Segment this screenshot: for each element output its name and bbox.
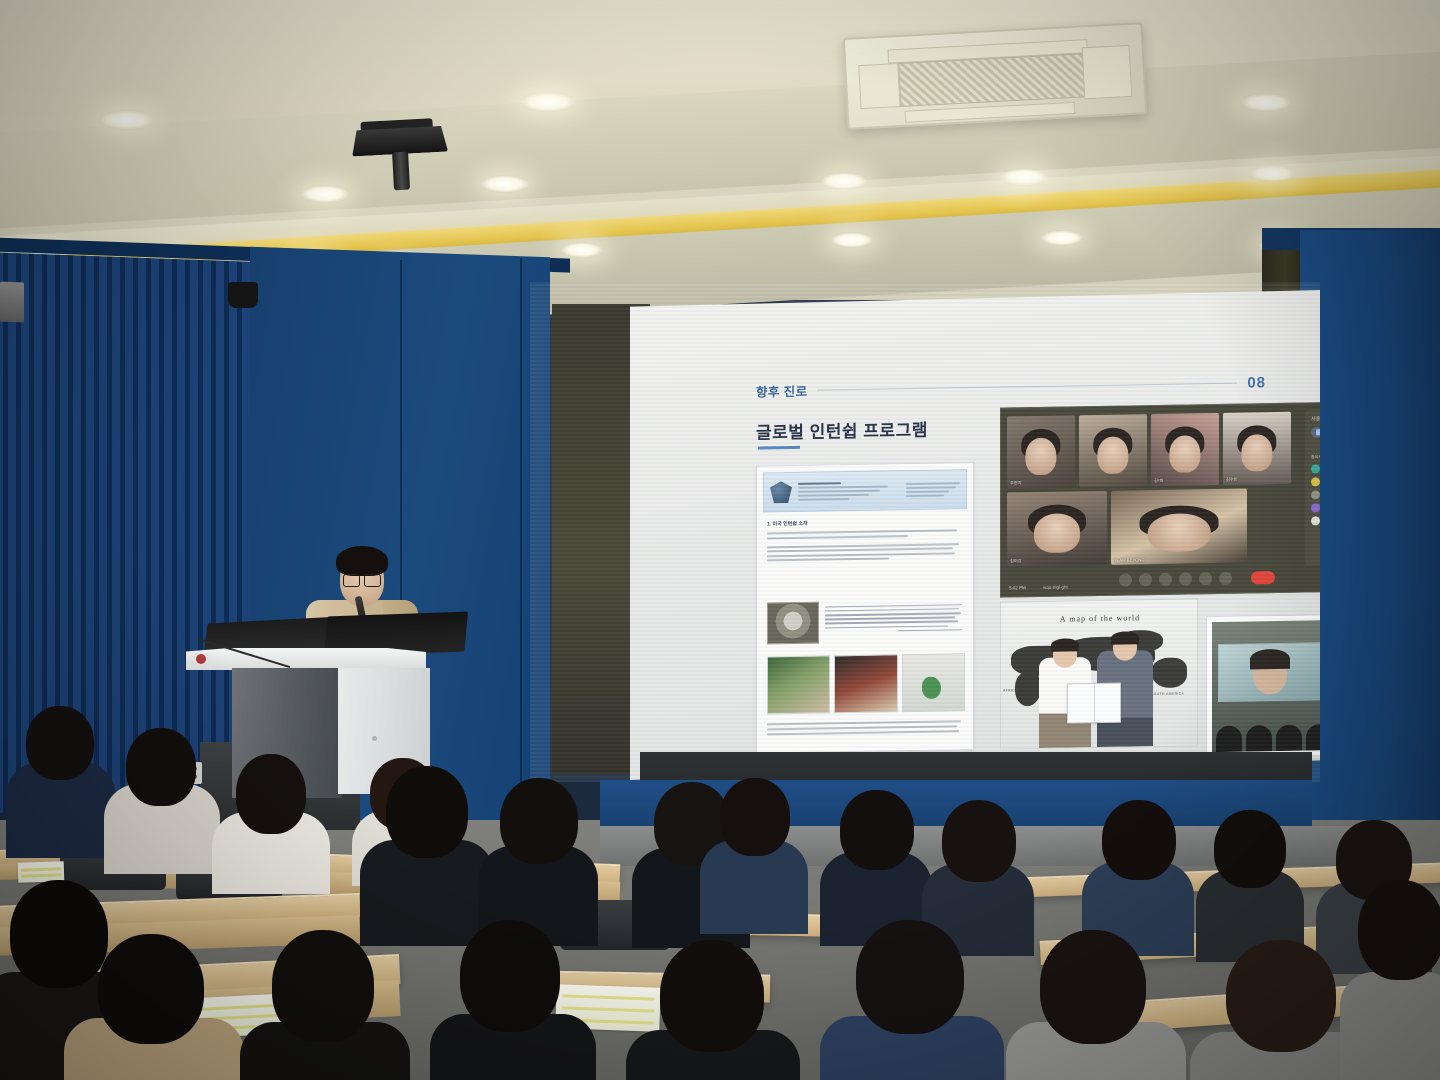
wall-seam [520, 258, 522, 818]
map-continent [1015, 672, 1041, 706]
audience-member [6, 706, 116, 856]
map-region-label: SOUTH AMERICA [1151, 692, 1184, 697]
letterhead-services [906, 480, 960, 499]
person-head [386, 766, 468, 858]
signed-agreement-document [1067, 683, 1121, 724]
video-tile [1079, 414, 1147, 487]
person-head [460, 920, 560, 1032]
document-paragraph [767, 543, 963, 562]
person-head [126, 728, 196, 806]
audience-member [1340, 880, 1440, 1080]
person-head [1102, 800, 1176, 880]
video-tile: 김*희 [1151, 413, 1219, 486]
slide-header: 향후 진로 08 [756, 373, 1266, 400]
audience-member [820, 790, 932, 940]
document-body: 1. 미국 인턴쉽 소개 [767, 517, 963, 568]
ceiling-projector-icon [351, 126, 449, 177]
audience-member [64, 934, 244, 1080]
tile-name: 김*희 [1154, 478, 1163, 484]
document-quote-block [767, 599, 965, 646]
video-tile: 주현지 [1007, 415, 1075, 488]
person-head [1040, 930, 1146, 1044]
person-head [500, 778, 578, 864]
tile-name: 김이강 [1010, 558, 1022, 564]
audience-member [626, 940, 800, 1080]
avatar [1311, 477, 1320, 486]
video-tile-active-speaker: TEAM BEYOND [1111, 488, 1247, 564]
document-photo [767, 655, 830, 714]
downlight-icon [1250, 165, 1296, 182]
downlight-icon [830, 232, 874, 248]
projection-screen: 향후 진로 08 글로벌 인턴쉽 프로그램 [530, 282, 1320, 782]
tile-name: TEAM BEYOND [1114, 557, 1144, 563]
person-head [856, 920, 964, 1034]
present-screen-icon[interactable] [1199, 572, 1212, 585]
ac-unit-icon [843, 22, 1147, 130]
raise-hand-icon[interactable] [1219, 571, 1232, 584]
mou-signing-photo: A map of the world NORTH AMERICA SOUTH A… [1000, 598, 1198, 749]
audience-member [104, 728, 220, 868]
avatar [1311, 503, 1320, 512]
map-region-label: AFRICA [1003, 688, 1018, 692]
person-head [660, 940, 764, 1052]
participant-video-grid: 주현지 김*희 김수빈 [1007, 412, 1299, 567]
map-region-label: NORTH AMERICA [1151, 662, 1184, 667]
person-head [840, 790, 914, 870]
downlight-icon [1040, 230, 1084, 246]
tile-name: 김수빈 [1226, 477, 1238, 483]
slide-page-number: 08 [1247, 374, 1266, 391]
audience-member [700, 778, 808, 928]
audience-member [240, 930, 410, 1080]
audience-member [430, 920, 596, 1080]
video-tile: 김수빈 [1223, 412, 1291, 485]
audience-member [360, 766, 494, 936]
downlight-icon [100, 110, 154, 130]
person-head [272, 930, 374, 1042]
avatar [1311, 464, 1320, 473]
lectern-top [186, 648, 426, 670]
person-head [1226, 940, 1336, 1052]
world-map-wall-text: A map of the world [1015, 613, 1185, 625]
downlight-icon [560, 242, 604, 258]
microphone-head-icon [196, 654, 206, 664]
reactions-icon[interactable] [1179, 572, 1192, 585]
document-paragraph [767, 529, 963, 539]
ceiling-camera-icon [228, 282, 258, 308]
lectern-knob [372, 736, 377, 741]
captions-icon[interactable] [1159, 572, 1172, 585]
letterhead-text [798, 479, 900, 503]
audience-member [820, 920, 1004, 1080]
slide-kicker: 향후 진로 [756, 381, 807, 401]
end-call-button[interactable] [1251, 571, 1275, 584]
internship-document: 1. 미국 인턴쉽 소개 [756, 462, 974, 754]
document-photo-row [767, 653, 965, 714]
audience-member [1196, 810, 1304, 958]
wall-speaker-icon [0, 282, 24, 323]
video-tile: 김이강 [1007, 491, 1107, 567]
document-photo [834, 654, 897, 713]
document-caption [767, 717, 965, 738]
avatar [1311, 516, 1320, 525]
tile-name: 주현지 [1010, 480, 1022, 486]
audience-member [1006, 930, 1186, 1080]
person-head [236, 754, 306, 834]
government-seal-icon [767, 602, 819, 645]
quote-text [825, 599, 965, 645]
more-options-icon[interactable] [1239, 571, 1244, 584]
downlight-icon [820, 172, 868, 190]
slide-title: 글로벌 인턴쉽 프로그램 [756, 416, 928, 444]
person-head [98, 934, 204, 1044]
downlight-icon [1240, 93, 1292, 112]
avatar [1311, 490, 1320, 499]
document-letterhead [763, 469, 967, 512]
document-photo [902, 653, 965, 712]
document-section-heading: 1. 미국 인턴쉽 소개 [767, 517, 963, 527]
downlight-icon [1000, 168, 1048, 186]
audience-member [1082, 800, 1194, 950]
person-head [942, 800, 1016, 882]
person-body [1340, 972, 1440, 1080]
person-head [720, 778, 790, 856]
glasses-icon [343, 574, 381, 585]
header-rule [817, 383, 1237, 391]
microphone-icon[interactable] [1119, 573, 1132, 586]
audience-member [212, 754, 330, 884]
title-underline [758, 446, 800, 450]
person-head [1214, 810, 1286, 888]
downlight-icon [520, 92, 576, 112]
audience-member [478, 778, 598, 938]
person-head [26, 706, 94, 780]
org-logo-icon [770, 481, 792, 503]
downlight-icon [300, 185, 350, 203]
downlight-icon [480, 175, 530, 193]
lecture-hall-photo: 향후 진로 08 글로벌 인턴쉽 프로그램 [0, 0, 1440, 1080]
presenter-hair [336, 546, 388, 576]
remote-guest-screen [1218, 642, 1326, 702]
presentation-slide: 향후 진로 08 글로벌 인턴쉽 프로그램 [630, 290, 1320, 780]
person-head [1358, 880, 1440, 980]
blue-wall-panel-right [1300, 230, 1440, 830]
camera-icon[interactable] [1139, 573, 1152, 586]
